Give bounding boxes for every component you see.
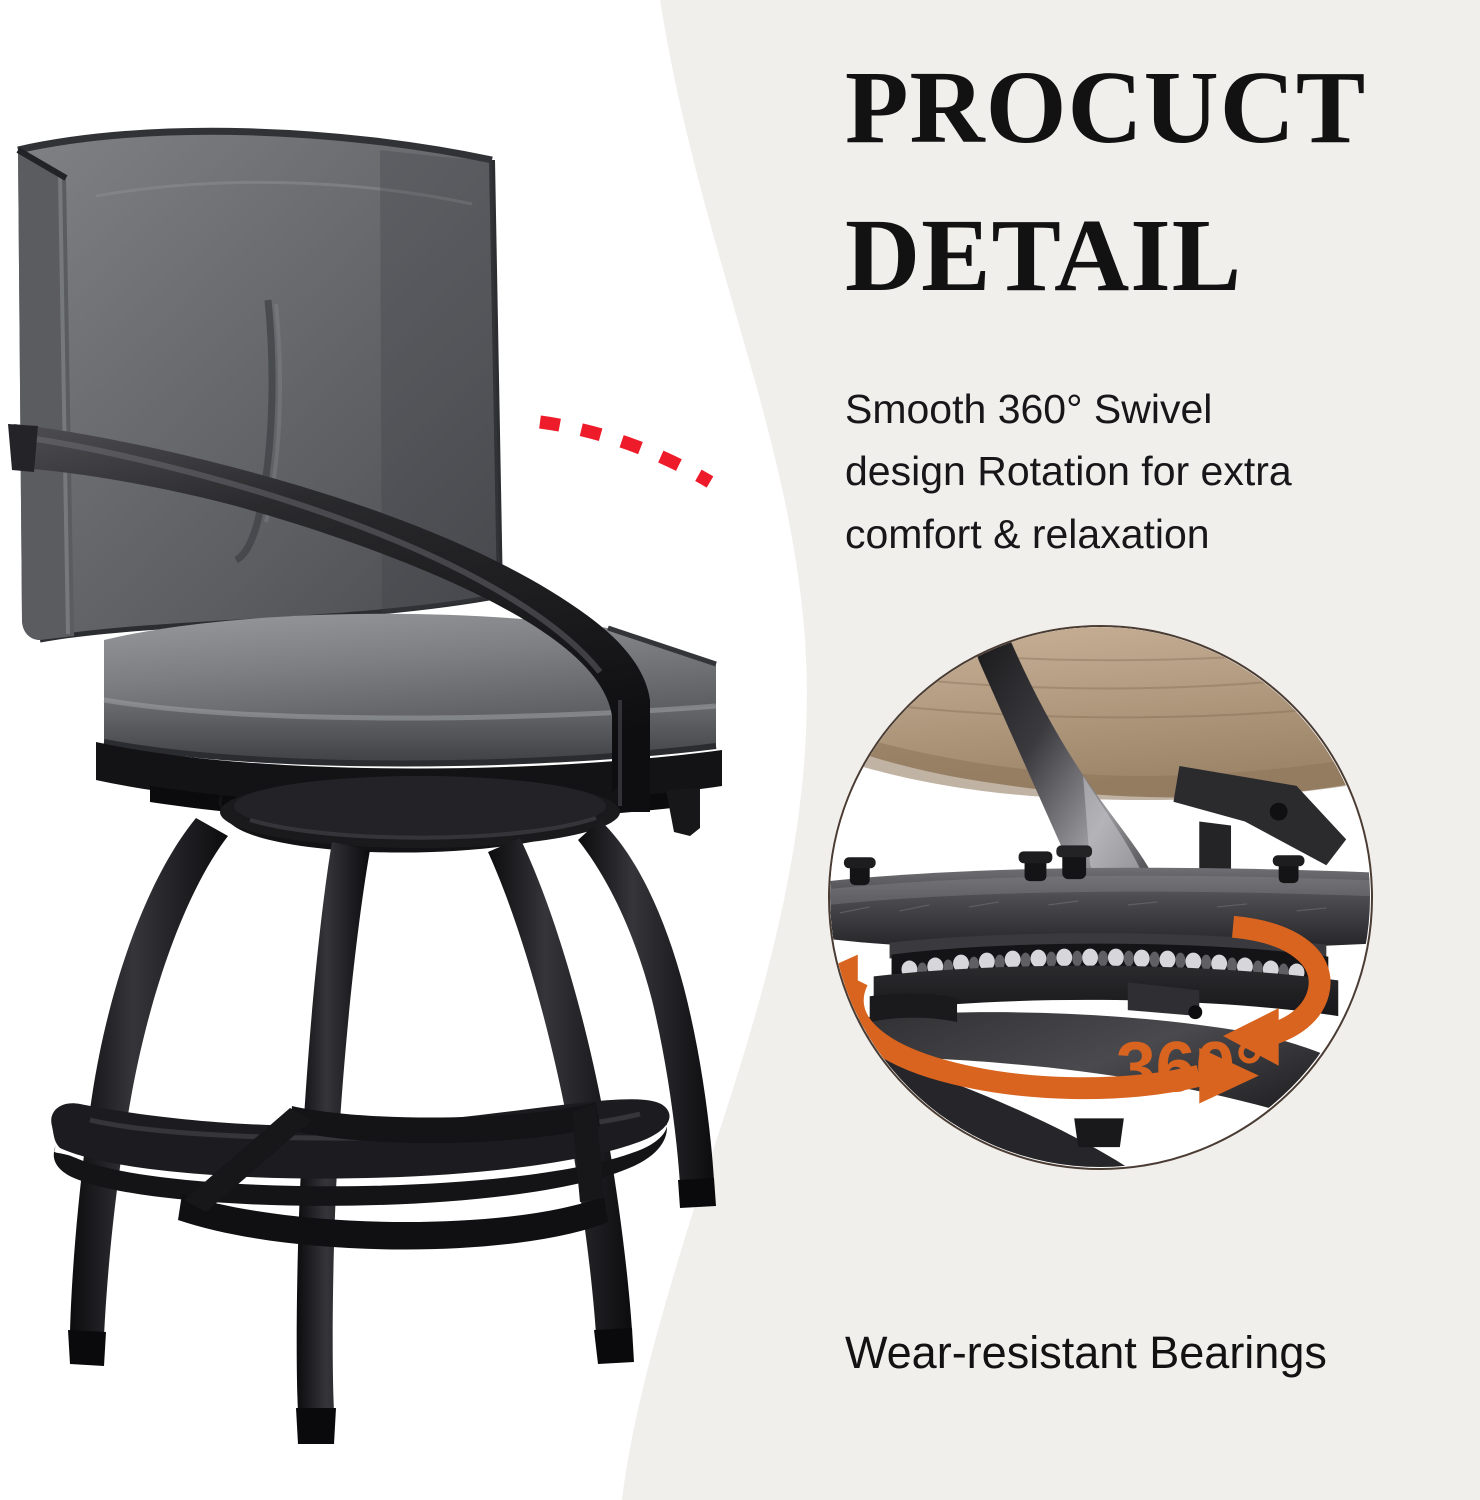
page-title: PROCUCT DETAIL xyxy=(845,34,1445,329)
product-detail-infographic: PROCUCT DETAIL Smooth 360° Swivel design… xyxy=(0,0,1480,1500)
feature-description: Smooth 360° Swivel design Rotation for e… xyxy=(845,378,1390,565)
armrest-motion-annotation xyxy=(540,422,710,482)
feature-description-line-3: comfort & relaxation xyxy=(845,503,1390,565)
inset-caption: Wear-resistant Bearings xyxy=(845,1326,1465,1380)
rotation-label: 360° xyxy=(1116,1028,1264,1108)
feature-description-line-1: Smooth 360° Swivel xyxy=(845,378,1390,440)
page-title-line-2: DETAIL xyxy=(845,182,1445,330)
page-title-line-1: PROCUCT xyxy=(845,50,1366,165)
swivel-mechanism-inset: 360° xyxy=(828,625,1373,1170)
swivel-bar-stool-photo xyxy=(0,0,790,1500)
swivel-hub xyxy=(218,776,620,853)
feature-description-line-2: design Rotation for extra xyxy=(845,440,1390,502)
